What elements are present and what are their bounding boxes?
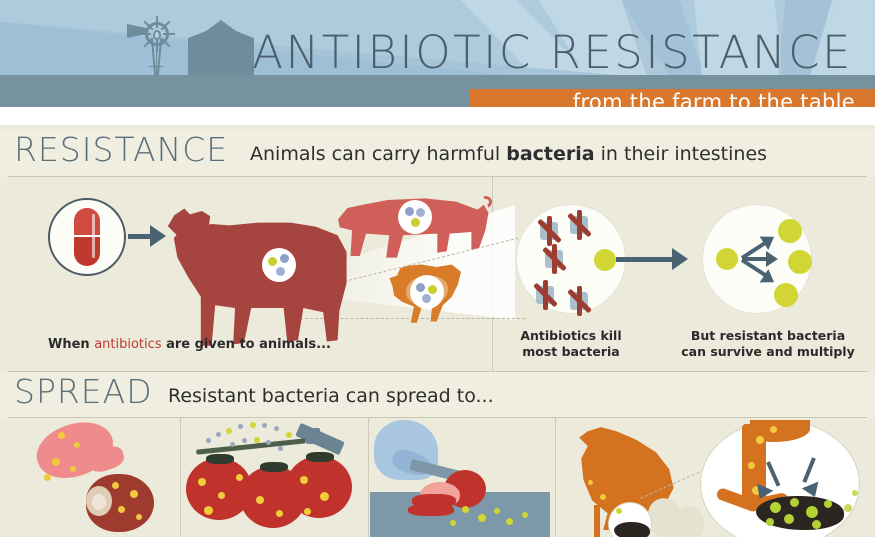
tomato-icon	[286, 456, 352, 518]
bacteria-dot-blue	[422, 294, 431, 303]
bacteria-dot	[784, 514, 794, 524]
panel-divider	[555, 418, 556, 537]
section-subtitle-resistance: Animals can carry harmful bacteria in th…	[250, 143, 767, 165]
windmill-hub-center	[153, 30, 161, 40]
bacteria-dot-blue	[416, 283, 425, 292]
resistant-bacteria-icon	[788, 250, 812, 274]
dead-bacteria-x-icon	[541, 246, 567, 272]
spray-bacteria-dot	[230, 442, 235, 447]
panel-divider	[180, 418, 181, 537]
bacteria-dot-blue	[280, 254, 289, 263]
bacteria-dot	[300, 476, 308, 484]
bacteria-dot	[494, 508, 500, 514]
section-heading-spread: SPREAD Resistant bacteria can spread to.…	[0, 372, 875, 419]
caption-line-2: most bacteria	[506, 344, 636, 360]
bacteria-dot	[70, 466, 76, 472]
tomato-calyx-icon	[260, 462, 288, 472]
spray-bacteria-dot	[254, 437, 260, 443]
bacteria-dot	[450, 520, 456, 526]
bacteria-dot	[748, 462, 755, 469]
subtitle-part-bold: bacteria	[506, 143, 594, 165]
pill-capsule-top	[74, 208, 100, 237]
bacteria-dot	[118, 506, 125, 513]
spray-bacteria-dot	[226, 428, 232, 434]
spray-bacteria-dot	[250, 422, 256, 428]
page-title: ANTIBIOTIC RESISTANCE	[252, 30, 853, 75]
resistant-bacteria-icon	[778, 219, 802, 243]
caption-emphasis: antibiotics	[94, 337, 161, 352]
caption-resistant-multiply: But resistant bacteria can survive and m…	[678, 328, 858, 359]
spray-bacteria-dot	[262, 423, 267, 428]
bacteria-dot	[236, 474, 243, 481]
header-bottom-strip	[0, 107, 875, 125]
bacteria-dot-blue	[416, 208, 425, 217]
bacteria-dot	[130, 490, 138, 498]
resistant-bacteria-icon	[774, 283, 798, 307]
spray-bacteria-dot	[206, 438, 211, 443]
bacteria-badge-icon	[262, 248, 296, 282]
caption-line-1: Antibiotics kill	[506, 328, 636, 344]
tomato-calyx-icon	[306, 452, 334, 462]
bacteria-dot	[52, 458, 60, 466]
caption-line-2: can survive and multiply	[678, 344, 858, 360]
bacteria-dot	[770, 502, 781, 513]
bacteria-dot	[44, 474, 51, 481]
arrow-right-head	[150, 225, 166, 247]
infographic-poster: ANTIBIOTIC RESISTANCE from the farm to t…	[0, 0, 875, 537]
bacteria-dot	[824, 500, 832, 508]
spray-bacteria-dot	[286, 432, 292, 438]
section-title-resistance: RESISTANCE	[14, 133, 228, 166]
tomato-slice-icon	[408, 504, 454, 516]
arrow-right-icon	[616, 257, 674, 262]
bacteria-dot	[766, 518, 774, 526]
bacteria-dot-blue	[276, 267, 285, 276]
bacteria-dot	[806, 506, 818, 518]
resistant-bacteria-icon	[594, 249, 616, 271]
bacteria-dot	[256, 496, 264, 504]
poster-header: ANTIBIOTIC RESISTANCE from the farm to t…	[0, 0, 875, 125]
bacteria-dot	[522, 512, 528, 518]
manure-icon	[614, 522, 650, 537]
bacteria-dot	[844, 504, 852, 512]
bacteria-dot	[600, 494, 606, 500]
bacteria-dot	[112, 482, 119, 489]
bacteria-dot	[790, 498, 799, 507]
bacteria-dot	[320, 492, 329, 501]
arrow-right-icon	[128, 234, 152, 239]
caption-post: are given to animals...	[162, 337, 331, 352]
windmill-blade	[156, 40, 158, 52]
chicken-leg-icon	[594, 505, 600, 537]
caption-antibiotics-given: When antibiotics are given to animals...	[48, 337, 331, 352]
panel-divider	[368, 418, 369, 537]
spray-bacteria-dot	[216, 432, 221, 437]
arrow-right-head	[672, 248, 688, 270]
bacteria-dot	[198, 478, 206, 486]
spray-bacteria-dot	[242, 438, 247, 443]
bacteria-dot-green	[411, 218, 420, 227]
bacteria-dot	[478, 514, 486, 522]
bacteria-dot	[58, 432, 65, 439]
windmill-blade	[156, 16, 158, 28]
section-heading-resistance: RESISTANCE Animals can carry harmful bac…	[0, 130, 875, 177]
tomato-calyx-icon	[206, 454, 234, 464]
spray-bacteria-dot	[274, 426, 279, 431]
caption-pre: When	[48, 337, 94, 352]
bacteria-dot	[218, 492, 225, 499]
bacteria-dot	[304, 508, 311, 515]
bacteria-dot	[506, 518, 513, 525]
spray-bacteria-dot	[278, 446, 283, 451]
steak-bone	[92, 494, 106, 510]
spray-bacteria-dot	[238, 424, 243, 429]
multiply-arrow-head	[766, 251, 778, 267]
bacteria-dot	[756, 436, 764, 444]
resistant-bacteria-icon	[716, 248, 738, 270]
bacteria-dot-green	[268, 257, 277, 266]
pill-highlight	[92, 214, 95, 258]
section-subtitle-spread: Resistant bacteria can spread to...	[168, 385, 494, 407]
bacteria-dot	[588, 480, 593, 485]
bacteria-dot	[204, 506, 213, 515]
bacteria-dot	[136, 514, 142, 520]
windmill-blade	[163, 33, 175, 35]
spray-nozzle-head	[306, 428, 320, 444]
spray-bacteria-dot	[266, 440, 271, 445]
bacteria-dot	[616, 508, 622, 514]
subtitle-part-pre: Animals can carry harmful	[250, 143, 506, 165]
section-title-spread: SPREAD	[14, 375, 153, 408]
pill-capsule-seam	[74, 235, 100, 237]
caption-antibiotics-kill: Antibiotics kill most bacteria	[506, 328, 636, 359]
dead-bacteria-x-icon	[566, 212, 592, 238]
dead-bacteria-x-icon	[536, 218, 562, 244]
caption-line-1: But resistant bacteria	[678, 328, 858, 344]
bacteria-dot	[770, 426, 777, 433]
bacteria-dot	[276, 510, 283, 517]
bacteria-badge-icon	[410, 275, 444, 309]
bacteria-dot	[852, 490, 858, 496]
bacteria-dot-blue	[405, 207, 414, 216]
bacteria-dot-green	[428, 285, 437, 294]
dead-bacteria-x-icon	[566, 288, 592, 314]
bacteria-dot	[462, 506, 469, 513]
bacteria-dot	[812, 520, 821, 529]
bacteria-dot	[74, 442, 80, 448]
bacteria-badge-icon	[398, 200, 432, 234]
dead-bacteria-x-icon	[532, 282, 558, 308]
subtitle-part-post: in their intestines	[595, 143, 767, 165]
